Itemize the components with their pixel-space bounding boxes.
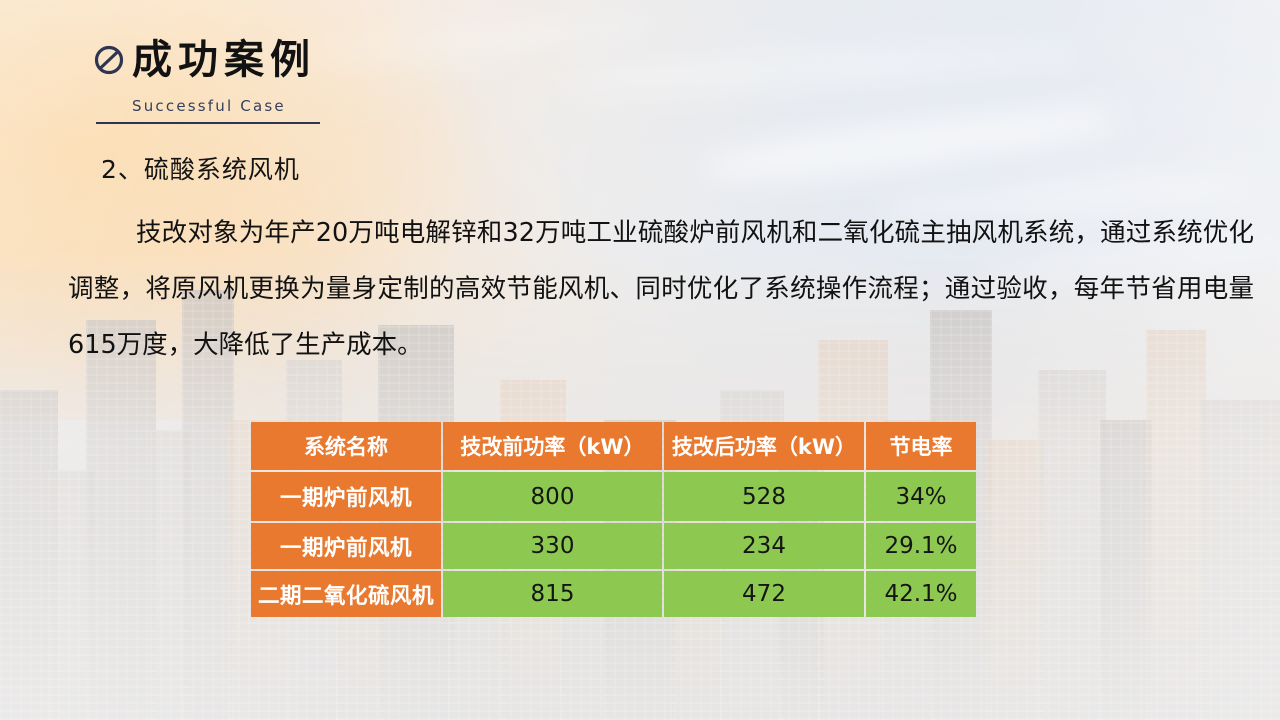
title-row: 成功案例 (92, 34, 522, 86)
section-heading: 2、硫酸系统风机 (101, 150, 1254, 186)
data-table-container: 系统名称 技改前功率（kW） 技改后功率（kW） 节电率 一期炉前风机 800 … (249, 420, 976, 619)
cell-power-before: 330 (443, 523, 662, 569)
cell-system-name: 二期二氧化硫风机 (251, 571, 441, 617)
column-header-saving-rate: 节电率 (866, 422, 976, 470)
building-silhouette (1038, 370, 1106, 720)
body-paragraph: 技改对象为年产20万吨电解锌和32万吨工业硫酸炉前风机和二氧化硫主抽风机系统，通… (68, 205, 1254, 373)
table-header-row: 系统名称 技改前功率（kW） 技改后功率（kW） 节电率 (251, 422, 976, 470)
title-divider (96, 122, 320, 124)
column-header-system-name: 系统名称 (251, 422, 441, 470)
slide-canvas: 成功案例 Successful Case 2、硫酸系统风机 技改对象为年产20万… (0, 0, 1280, 720)
slide-content: 2、硫酸系统风机 技改对象为年产20万吨电解锌和32万吨工业硫酸炉前风机和二氧化… (68, 150, 1254, 373)
table-header: 系统名称 技改前功率（kW） 技改后功率（kW） 节电率 (251, 422, 976, 470)
page-title: 成功案例 (132, 40, 316, 80)
table-body: 一期炉前风机 800 528 34% 一期炉前风机 330 234 29.1% … (251, 472, 976, 617)
slashed-circle-icon (92, 43, 126, 77)
table-row: 一期炉前风机 800 528 34% (251, 472, 976, 521)
column-header-power-before: 技改前功率（kW） (443, 422, 662, 470)
building-silhouette (986, 440, 1044, 720)
cell-saving-rate: 29.1% (866, 523, 976, 569)
cell-power-before: 815 (443, 571, 662, 617)
comparison-table: 系统名称 技改前功率（kW） 技改后功率（kW） 节电率 一期炉前风机 800 … (249, 420, 978, 619)
cell-saving-rate: 42.1% (866, 571, 976, 617)
cell-power-after: 472 (664, 571, 864, 617)
cell-saving-rate: 34% (866, 472, 976, 521)
cell-system-name: 一期炉前风机 (251, 523, 441, 569)
cell-power-after: 234 (664, 523, 864, 569)
column-header-power-after: 技改后功率（kW） (664, 422, 864, 470)
cell-power-before: 800 (443, 472, 662, 521)
building-silhouette (86, 320, 156, 720)
table-row: 一期炉前风机 330 234 29.1% (251, 523, 976, 569)
building-silhouette (1200, 400, 1280, 720)
slide-header: 成功案例 Successful Case (92, 34, 522, 124)
table-row: 二期二氧化硫风机 815 472 42.1% (251, 571, 976, 617)
cell-system-name: 一期炉前风机 (251, 472, 441, 521)
building-silhouette (1100, 420, 1152, 720)
cell-power-after: 528 (664, 472, 864, 521)
page-subtitle: Successful Case (132, 97, 522, 115)
building-silhouette (1146, 330, 1206, 720)
